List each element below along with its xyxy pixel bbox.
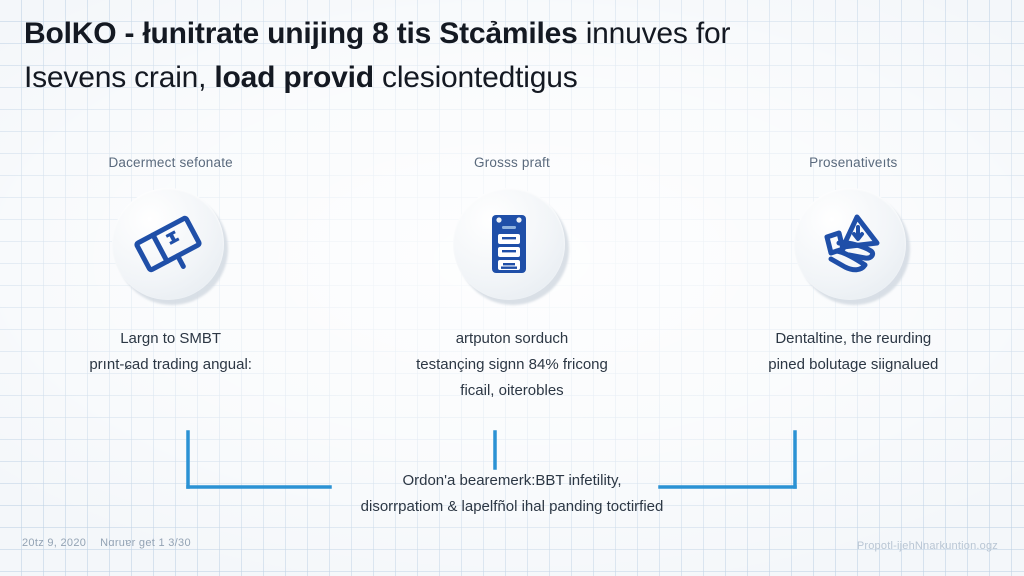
bracket-caption-line2: disorrpatiom & lapelfñol ihal panding to…: [262, 494, 762, 520]
hand-warning-icon: [813, 207, 887, 281]
three-column-group: Dacermect sefonate: [0, 150, 1024, 404]
column-presentations: Prosenativeıts: [683, 150, 1024, 404]
column-1-body: Largn to SMBT prınt-ɕad trading angual:: [21, 326, 321, 378]
column-3-body: Dentaltine, the reurding pined bolutage …: [703, 326, 1003, 378]
column-2-body: artputon sorduch testançing signn 84% fr…: [362, 326, 662, 404]
column-2-body-line3: ficail, oiterobles: [362, 378, 662, 404]
bracket-caption: Ordon'a bearemerk:BBT infetility, disorr…: [262, 468, 762, 520]
column-3-icon-badge: [794, 188, 912, 306]
column-1-body-line2: prınt-ɕad trading angual:: [21, 352, 321, 378]
tilted-document-icon: [131, 207, 205, 281]
title-line1-rest: innuves for: [578, 17, 731, 50]
footer-date: 20tz 9, 2020: [22, 537, 86, 549]
column-1-icon-badge: [112, 188, 230, 306]
column-2-body-line1: artputon sorduch: [362, 326, 662, 352]
badge-circle: [794, 188, 906, 300]
title-bold-lead: BolKO - łunitrate unijing 8 tis Stcảmile…: [24, 17, 578, 50]
column-1-body-line1: Largn to SMBT: [21, 326, 321, 352]
column-document: Dacermect sefonate: [0, 150, 341, 404]
title-line2-lead: Isevens crain,: [24, 61, 214, 94]
page-title: BolKO - łunitrate unijing 8 tis Stcảmile…: [24, 12, 924, 100]
column-2-body-line2: testançing signn 84% fricong: [362, 352, 662, 378]
bracket-caption-line1: Ordon'a bearemerk:BBT infetility,: [262, 468, 762, 494]
badge-circle: [112, 188, 224, 300]
badge-circle: [453, 188, 565, 300]
column-3-header: Prosenativeıts: [809, 150, 897, 176]
clipboard-form-icon: [472, 207, 546, 281]
column-3-body-line1: Dentaltine, the reurding: [703, 326, 1003, 352]
column-1-header: Dacermect sefonate: [108, 150, 232, 176]
footer-left: 20tz 9, 2020Nɑruɐr ɡet 1 3/30: [22, 537, 205, 549]
title-line2-tail: clesiontedtigus: [374, 61, 578, 94]
column-gross-profit: Grosss praft: [341, 150, 682, 404]
footer-source: Propotl-ijehNnarkuntion.ogz: [857, 540, 998, 552]
slide-content: BolKO - łunitrate unijing 8 tis Stcảmile…: [0, 0, 1024, 576]
column-2-header: Grosss praft: [474, 150, 550, 176]
title-line2-bold: load provid: [214, 61, 373, 94]
footer-note: Nɑruɐr ɡet 1 3/30: [100, 537, 191, 549]
column-3-body-line2: pined bolutage siignalued: [703, 352, 1003, 378]
column-2-icon-badge: [453, 188, 571, 306]
